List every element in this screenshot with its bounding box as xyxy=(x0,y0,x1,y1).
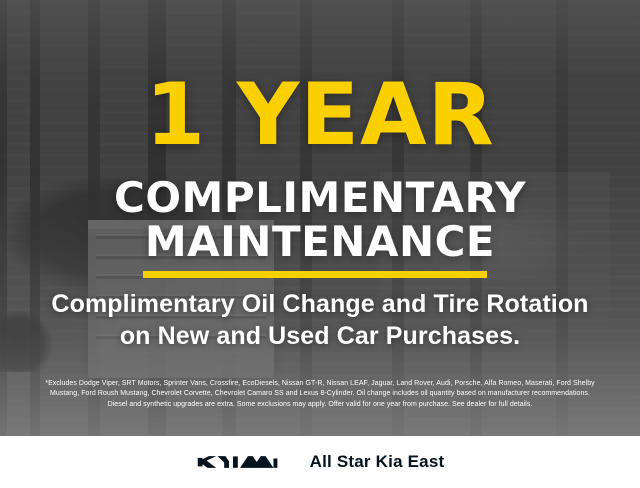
offer-description-line-2: on New and Used Car Purchases. xyxy=(0,320,640,352)
disclaimer-fine-print: *Excludes Dodge Viper, SRT Motors, Sprin… xyxy=(14,379,626,410)
dealer-name: All Star Kia East xyxy=(310,452,445,472)
kia-maintenance-ad: 1 YEAR COMPLIMENTARY MAINTENANCE Complim… xyxy=(0,0,640,488)
yellow-divider-rule xyxy=(143,271,487,278)
headline-subtitle-line-1: COMPLIMENTARY xyxy=(114,173,526,222)
offer-description: Complimentary Oil Change and Tire Rotati… xyxy=(0,288,640,352)
banner-content: 1 YEAR COMPLIMENTARY MAINTENANCE Complim… xyxy=(0,0,640,436)
disclaimer-line-2: Mustang, Ford Roush Mustang, Chevrolet C… xyxy=(14,389,626,399)
disclaimer-line-3: Diesel and synthetic upgrades are extra.… xyxy=(14,400,626,410)
dealer-footer-bar: All Star Kia East xyxy=(0,436,640,488)
disclaimer-line-1: *Excludes Dodge Viper, SRT Motors, Sprin… xyxy=(14,379,626,389)
headline-subtitle-line-2: MAINTENANCE xyxy=(0,220,640,264)
headline-year: 1 YEAR xyxy=(0,72,640,158)
offer-description-line-1: Complimentary Oil Change and Tire Rotati… xyxy=(51,290,588,318)
headline-subtitle: COMPLIMENTARY MAINTENANCE xyxy=(0,176,640,264)
kia-logo-icon xyxy=(196,451,284,473)
promo-banner: 1 YEAR COMPLIMENTARY MAINTENANCE Complim… xyxy=(0,0,640,436)
